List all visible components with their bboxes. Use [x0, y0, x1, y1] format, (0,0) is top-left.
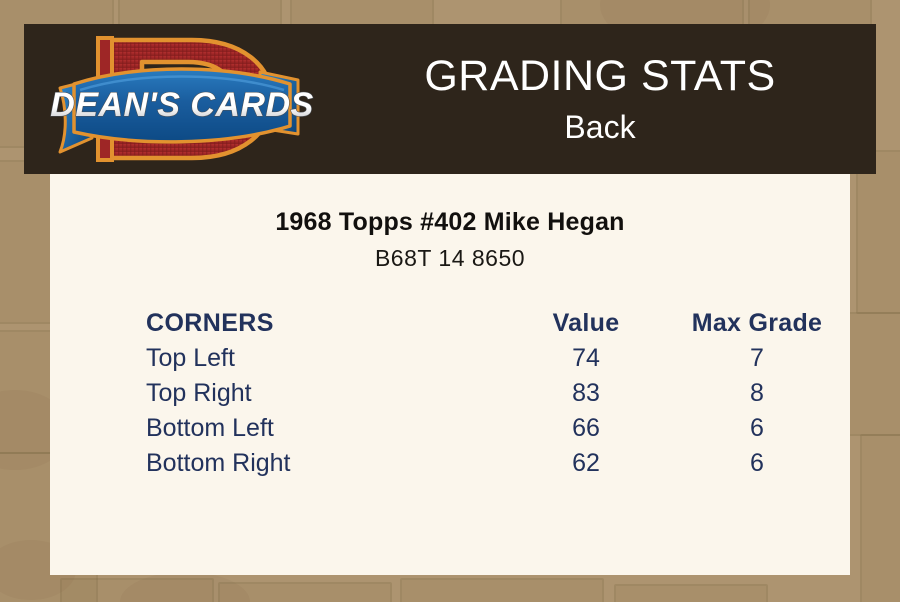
column-header-value: Value	[496, 306, 676, 341]
table-header: CORNERS Value Max Grade	[146, 306, 838, 341]
row-label: Bottom Left	[146, 411, 496, 446]
table-row: Bottom Right 62 6	[146, 446, 838, 481]
row-max-grade: 6	[676, 446, 838, 481]
row-value: 66	[496, 411, 676, 446]
deans-cards-logo[interactable]: DEAN'S CARDS	[46, 28, 314, 170]
card-sku: B68T 14 8650	[50, 237, 850, 272]
page-subtitle: Back	[564, 108, 635, 146]
column-header-corners: CORNERS	[146, 306, 496, 341]
logo-ribbon: DEAN'S CARDS	[50, 69, 313, 152]
card-title: 1968 Topps #402 Mike Hegan	[50, 174, 850, 237]
row-value: 74	[496, 341, 676, 376]
content-panel: 1968 Topps #402 Mike Hegan B68T 14 8650 …	[50, 174, 850, 575]
row-max-grade: 8	[676, 376, 838, 411]
row-max-grade: 6	[676, 411, 838, 446]
row-value: 62	[496, 446, 676, 481]
page-title: GRADING STATS	[424, 52, 775, 101]
row-value: 83	[496, 376, 676, 411]
row-label: Bottom Right	[146, 446, 496, 481]
table-body: Top Left 74 7 Top Right 83 8 Bottom Left…	[146, 341, 838, 481]
row-label: Top Right	[146, 376, 496, 411]
row-max-grade: 7	[676, 341, 838, 376]
table-row: Top Right 83 8	[146, 376, 838, 411]
row-label: Top Left	[146, 341, 496, 376]
column-header-max-grade: Max Grade	[676, 306, 838, 341]
table-header-row: CORNERS Value Max Grade	[146, 306, 838, 341]
logo-ribbon-text: DEAN'S CARDS	[50, 86, 313, 124]
header-text-block: GRADING STATS Back	[324, 24, 876, 174]
grading-stats-table: CORNERS Value Max Grade Top Left 74 7 To…	[146, 306, 838, 481]
header-bar: DEAN'S CARDS GRADING STATS Back	[24, 24, 876, 174]
table-row: Top Left 74 7	[146, 341, 838, 376]
grading-stats-page: DEAN'S CARDS GRADING STATS Back 1968 Top…	[0, 0, 900, 602]
table-row: Bottom Left 66 6	[146, 411, 838, 446]
logo-artwork: DEAN'S CARDS	[46, 28, 314, 170]
